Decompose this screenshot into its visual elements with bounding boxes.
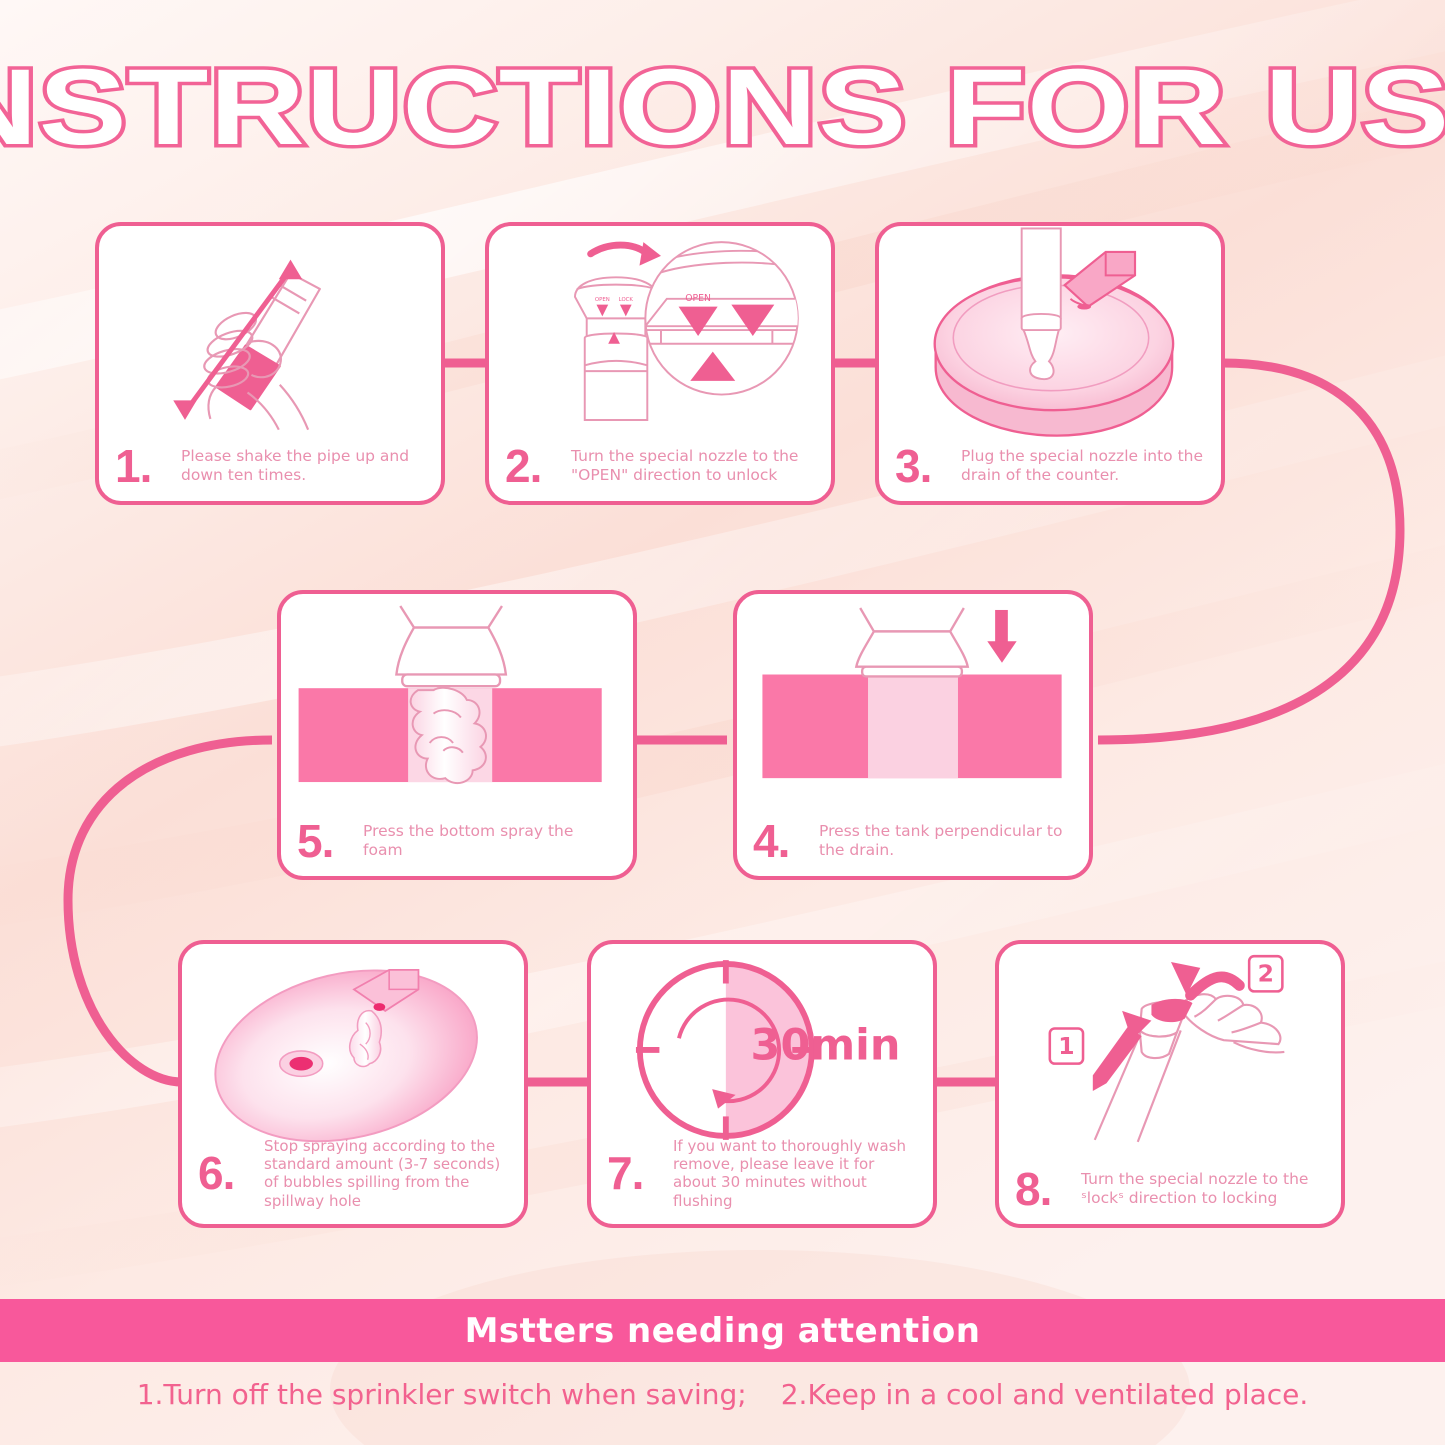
step-caption-1: 1. Please shake the pipe up and down ten… — [99, 446, 441, 487]
attention-note-2: 2.Keep in a cool and ventilated place. — [781, 1378, 1309, 1411]
step-caption-6: 6. Stop spraying according to the standa… — [182, 1137, 524, 1210]
step-text-3: Plug the special nozzle into the drain o… — [961, 447, 1205, 485]
step-text-4: Press the tank perpendicular to the drai… — [819, 822, 1073, 860]
attention-banner: Mstters needing attention — [0, 1299, 1445, 1362]
step-text-2: Turn the special nozzle to the "OPEN" di… — [571, 447, 815, 485]
step-caption-5: 5. Press the bottom spray the foam — [281, 821, 633, 862]
press-tank-down-icon — [737, 594, 1089, 799]
step-text-8: Turn the special nozzle to the ˢlockˢ di… — [1081, 1170, 1325, 1208]
foam-spray-pipe-icon — [281, 594, 633, 799]
step-card-5[interactable]: 5. Press the bottom spray the foam — [277, 590, 637, 880]
step-caption-2: 2. Turn the special nozzle to the "OPEN"… — [489, 446, 831, 487]
attention-notes: 1.Turn off the sprinkler switch when sav… — [0, 1378, 1445, 1411]
sink-spillway-foam-icon — [182, 944, 524, 1154]
step-card-8[interactable]: 1 2 8. Turn the special nozzle to the ˢl… — [995, 940, 1345, 1228]
step-number-4: 4. — [753, 821, 819, 862]
timer-label: 30min — [751, 1021, 901, 1071]
step-caption-4: 4. Press the tank perpendicular to the d… — [737, 821, 1089, 862]
step-caption-8: 8. Turn the special nozzle to the ˢlockˢ… — [999, 1169, 1341, 1210]
step-caption-7: 7. If you want to thoroughly wash remove… — [591, 1137, 933, 1210]
step-number-8: 8. — [1015, 1169, 1081, 1210]
nozzle-into-drain-icon — [879, 226, 1221, 441]
step-number-3: 3. — [895, 446, 961, 487]
step-number-6: 6. — [198, 1153, 264, 1194]
svg-text:OPEN: OPEN — [595, 297, 610, 303]
step-number-1: 1. — [115, 446, 181, 487]
attention-banner-heading: Mstters needing attention — [465, 1311, 981, 1351]
hand-locking-nozzle-icon: 1 2 — [999, 944, 1341, 1154]
step-caption-3: 3. Plug the special nozzle into the drai… — [879, 446, 1221, 487]
timer-clock-icon: 30min — [591, 944, 933, 1154]
step-card-6[interactable]: 6. Stop spraying according to the standa… — [178, 940, 528, 1228]
step-card-4[interactable]: 4. Press the tank perpendicular to the d… — [733, 590, 1093, 880]
attention-note-1: 1.Turn off the sprinkler switch when sav… — [137, 1378, 747, 1411]
step-card-2[interactable]: OPEN LOCK OPEN 2. Turn the specia — [485, 222, 835, 505]
step-number-7: 7. — [607, 1153, 673, 1194]
step-text-6: Stop spraying according to the standard … — [264, 1137, 508, 1210]
step-card-1[interactable]: 1. Please shake the pipe up and down ten… — [95, 222, 445, 505]
open-label: OPEN — [685, 293, 711, 304]
nozzle-open-magnifier-icon: OPEN LOCK OPEN — [489, 226, 831, 441]
badge-two-label: 2 — [1258, 960, 1274, 988]
step-card-7[interactable]: 30min 7. If you want to thoroughly wash … — [587, 940, 937, 1228]
step-number-5: 5. — [297, 821, 363, 862]
svg-text:LOCK: LOCK — [619, 297, 634, 303]
step-card-3[interactable]: 3. Plug the special nozzle into the drai… — [875, 222, 1225, 505]
step-connectors — [0, 0, 1445, 1445]
hand-shaking-bottle-icon — [99, 226, 441, 436]
step-text-1: Please shake the pipe up and down ten ti… — [181, 447, 425, 485]
step-text-5: Press the bottom spray the foam — [363, 822, 617, 860]
page-title-text: INSTRUCTIONS FOR USE — [0, 53, 1445, 161]
badge-one-label: 1 — [1058, 1032, 1074, 1060]
page-title: INSTRUCTIONS FOR USE — [0, 52, 1445, 162]
step-text-7: If you want to thoroughly wash remove, p… — [673, 1137, 917, 1210]
step-number-2: 2. — [505, 446, 571, 487]
